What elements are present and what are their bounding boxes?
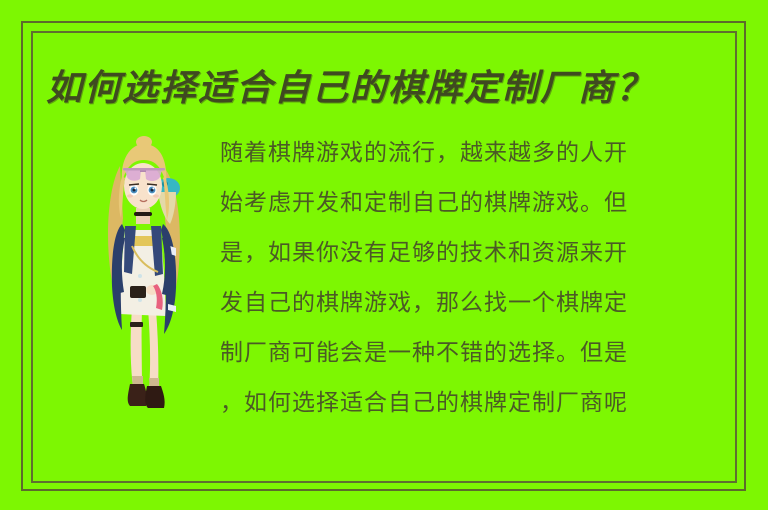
body-line: ，如何选择适合自己的棋牌定制厂商呢 bbox=[220, 378, 730, 428]
anime-girl-character-illustration bbox=[92, 126, 196, 410]
body-line: 始考虑开发和定制自己的棋牌游戏。但 bbox=[220, 178, 730, 228]
page-title: 如何选择适合自己的棋牌定制厂商？ bbox=[46, 62, 706, 114]
body-line: 制厂商可能会是一种不错的选择。但是 bbox=[220, 328, 730, 378]
body-text-block: 随着棋牌游戏的流行，越来越多的人开 始考虑开发和定制自己的棋牌游戏。但 是，如果… bbox=[220, 128, 730, 428]
poster-canvas: 如何选择适合自己的棋牌定制厂商？ bbox=[0, 0, 768, 510]
body-line: 发自己的棋牌游戏，那么找一个棋牌定 bbox=[220, 278, 730, 328]
body-line: 随着棋牌游戏的流行，越来越多的人开 bbox=[220, 128, 730, 178]
body-line: 是，如果你没有足够的技术和资源来开 bbox=[220, 228, 730, 278]
